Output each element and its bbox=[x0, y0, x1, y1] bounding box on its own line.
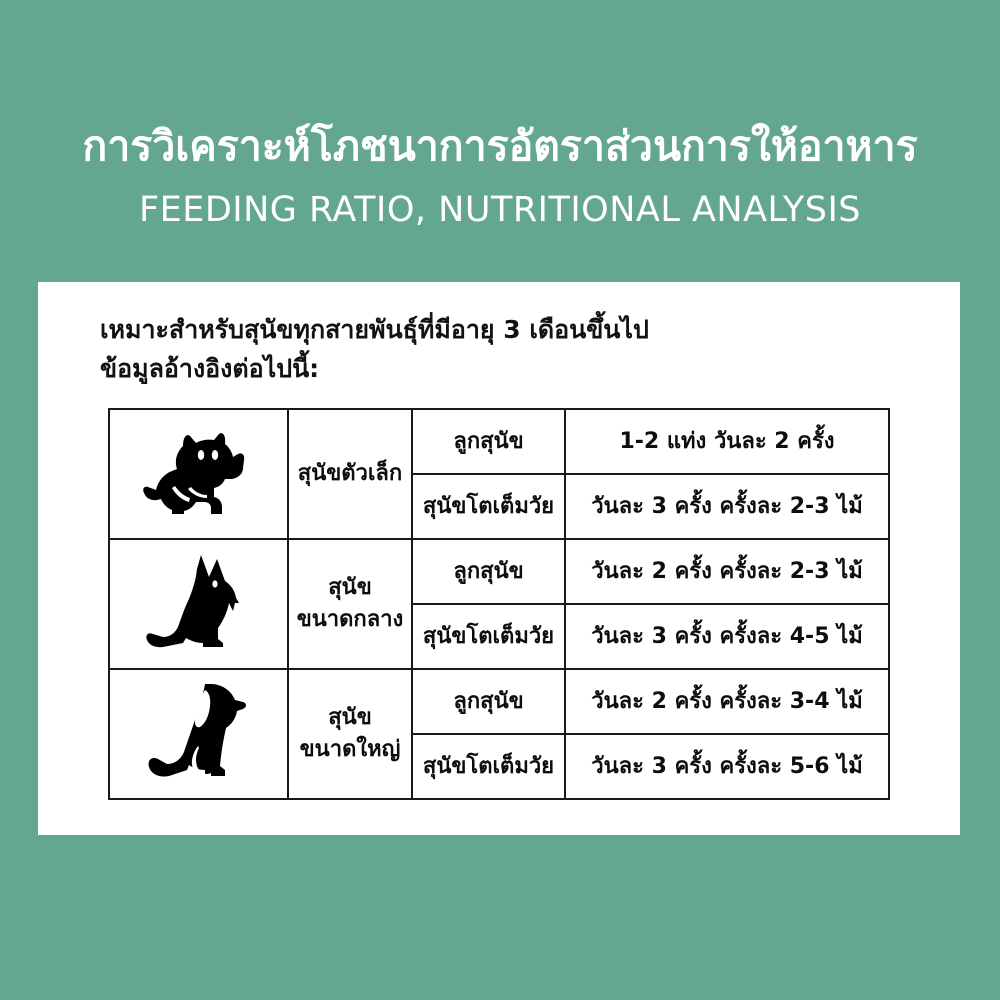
dog-size-label-medium-line2: ขนาดกลาง bbox=[289, 604, 411, 636]
dog-icon-cell-large bbox=[109, 669, 288, 799]
intro-line-2: ข้อมูลอ้างอิงต่อไปนี้: bbox=[100, 349, 649, 388]
page-subtitle-english: FEEDING RATIO, NUTRITIONAL ANALYSIS bbox=[0, 184, 1000, 236]
amount-puppy-small: 1-2 แท่ง วันละ 2 ครั้ง bbox=[565, 409, 889, 474]
dog-size-label-small: สุนัขตัวเล็ก bbox=[288, 409, 412, 539]
age-label-puppy-large: ลูกสุนัข bbox=[412, 669, 565, 734]
table-row: สุนัข ขนาดกลาง ลูกสุนัข วันละ 2 ครั้ง คร… bbox=[109, 539, 889, 604]
page-title-thai: การวิเคราะห์โภชนาการอัตราส่วนการให้อาหาร bbox=[0, 118, 1000, 174]
dog-size-label-medium: สุนัข ขนาดกลาง bbox=[288, 539, 412, 669]
amount-puppy-medium: วันละ 2 ครั้ง ครั้งละ 2-3 ไม้ bbox=[565, 539, 889, 604]
amount-adult-large: วันละ 3 ครั้ง ครั้งละ 5-6 ไม้ bbox=[565, 734, 889, 799]
dog-size-label-medium-line1: สุนัข bbox=[289, 572, 411, 604]
amount-adult-small: วันละ 3 ครั้ง ครั้งละ 2-3 ไม้ bbox=[565, 474, 889, 539]
dog-icon-cell-medium bbox=[109, 539, 288, 669]
dog-size-label-large: สุนัข ขนาดใหญ่ bbox=[288, 669, 412, 799]
table-row: สุนัขตัวเล็ก ลูกสุนัข 1-2 แท่ง วันละ 2 ค… bbox=[109, 409, 889, 474]
dog-size-label-large-line2: ขนาดใหญ่ bbox=[289, 734, 411, 766]
medium-dog-icon bbox=[110, 541, 287, 668]
poster-root: การวิเคราะห์โภชนาการอัตราส่วนการให้อาหาร… bbox=[0, 0, 1000, 1000]
amount-puppy-large: วันละ 2 ครั้ง ครั้งละ 3-4 ไม้ bbox=[565, 669, 889, 734]
age-label-adult-large: สุนัขโตเต็มวัย bbox=[412, 734, 565, 799]
intro-text: เหมาะสำหรับสุนัขทุกสายพันธุ์ที่มีอายุ 3 … bbox=[100, 310, 649, 388]
dog-size-label-large-line1: สุนัข bbox=[289, 702, 411, 734]
age-label-adult-medium: สุนัขโตเต็มวัย bbox=[412, 604, 565, 669]
small-dog-icon bbox=[110, 411, 287, 538]
age-label-adult-small: สุนัขโตเต็มวัย bbox=[412, 474, 565, 539]
intro-line-1: เหมาะสำหรับสุนัขทุกสายพันธุ์ที่มีอายุ 3 … bbox=[100, 310, 649, 349]
table-row: สุนัข ขนาดใหญ่ ลูกสุนัข วันละ 2 ครั้ง คร… bbox=[109, 669, 889, 734]
amount-adult-medium: วันละ 3 ครั้ง ครั้งละ 4-5 ไม้ bbox=[565, 604, 889, 669]
feeding-ratio-table: สุนัขตัวเล็ก ลูกสุนัข 1-2 แท่ง วันละ 2 ค… bbox=[108, 408, 890, 800]
dog-icon-cell-small bbox=[109, 409, 288, 539]
poster-header: การวิเคราะห์โภชนาการอัตราส่วนการให้อาหาร… bbox=[0, 118, 1000, 236]
content-card: เหมาะสำหรับสุนัขทุกสายพันธุ์ที่มีอายุ 3 … bbox=[38, 282, 960, 835]
age-label-puppy-small: ลูกสุนัข bbox=[412, 409, 565, 474]
age-label-puppy-medium: ลูกสุนัข bbox=[412, 539, 565, 604]
large-dog-icon bbox=[110, 671, 287, 798]
